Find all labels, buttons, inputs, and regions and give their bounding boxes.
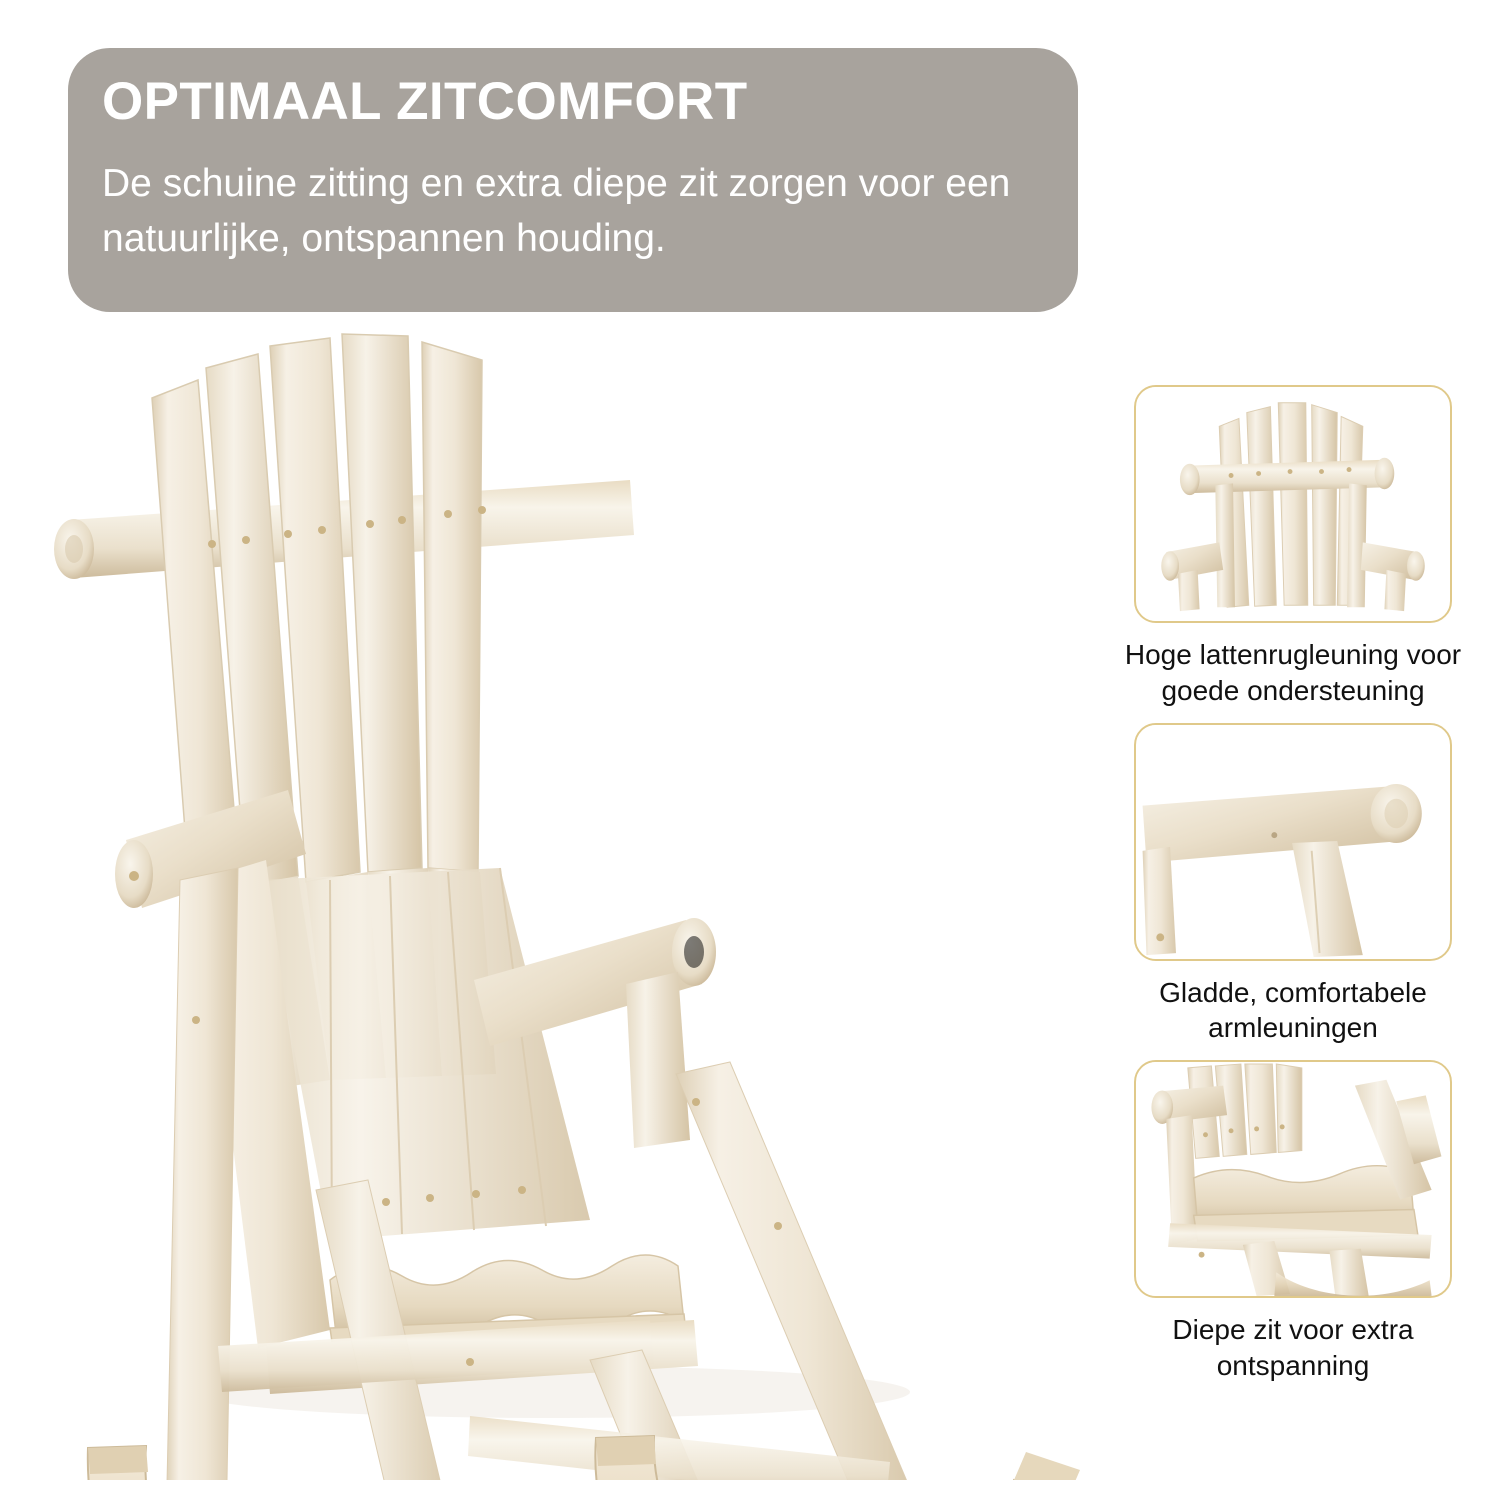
thumbnail-frame-backrest[interactable]: [1134, 385, 1452, 623]
thumbnail-frame-armrest[interactable]: [1134, 723, 1452, 961]
feature-caption-backrest: Hoge lattenrugleuning voor goede onderst…: [1122, 637, 1464, 709]
seat-back-panel: [262, 868, 590, 1240]
right-arm-post: [626, 972, 690, 1148]
banner-subtitle: De schuine zitting en extra diepe zit zo…: [102, 156, 1038, 267]
feature-item-seat: Diepe zit voor extra ontspanning: [1118, 1060, 1468, 1384]
feature-caption-armrest: Gladde, comfortabele armleuningen: [1122, 975, 1464, 1047]
feature-caption-seat: Diepe zit voor extra ontspanning: [1122, 1312, 1464, 1384]
rocking-chair-illustration: [30, 320, 1120, 1480]
slatted-backrest-closeup: [1136, 387, 1450, 621]
thumbnail-frame-seat[interactable]: [1134, 1060, 1452, 1298]
top-cross-log: [54, 480, 634, 579]
feature-item-armrest: Gladde, comfortabele armleuningen: [1118, 723, 1468, 1047]
armrest-closeup: [1136, 725, 1450, 959]
product-hero-image: [30, 320, 1120, 1480]
feature-list: Hoge lattenrugleuning voor goede onderst…: [1118, 385, 1468, 1495]
left-rocker: [88, 1446, 516, 1480]
feature-banner: OPTIMAAL ZITCOMFORT De schuine zitting e…: [68, 48, 1078, 312]
banner-title: OPTIMAAL ZITCOMFORT: [102, 74, 1038, 130]
deep-seat-closeup: [1136, 1062, 1450, 1296]
feature-item-backrest: Hoge lattenrugleuning voor goede onderst…: [1118, 385, 1468, 709]
